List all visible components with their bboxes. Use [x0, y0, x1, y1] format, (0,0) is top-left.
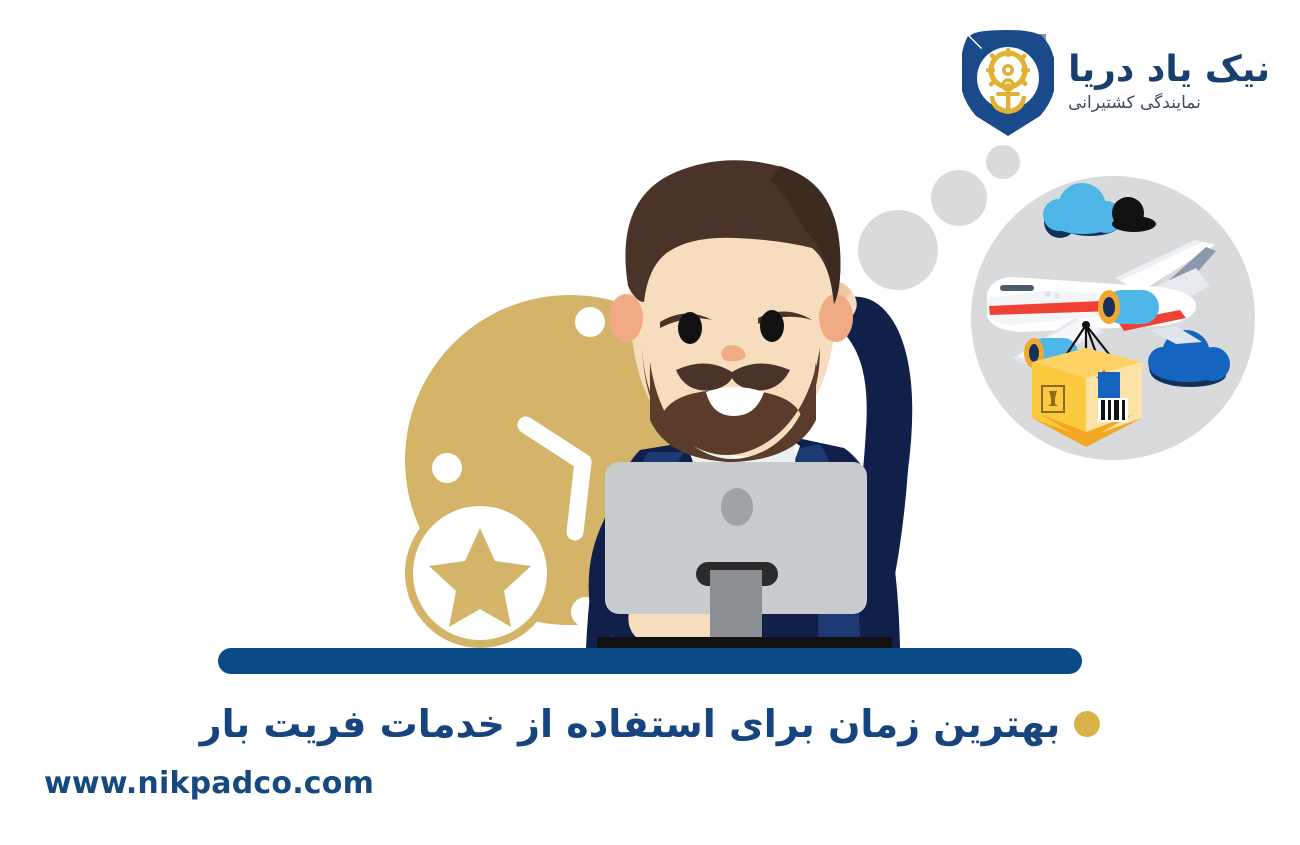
brand-logo[interactable]: نیک یاد دریا نمایندگی کشتیرانی [962, 28, 1270, 136]
keyboard [597, 637, 892, 650]
eyebrow-right [758, 311, 812, 324]
businessman [586, 160, 912, 648]
eye-right [760, 310, 784, 342]
headline-text: بهترین زمان برای استفاده از خدمات فریت ب… [200, 702, 1061, 746]
thought-bubbles [858, 145, 1020, 290]
nose [721, 345, 746, 361]
arm-left [589, 520, 700, 642]
brand-subtitle: نمایندگی کشتیرانی [1068, 95, 1201, 112]
compass-ship-wheel-anchor-icon [962, 28, 1054, 136]
monitor-camera-bump [721, 488, 753, 526]
cloud-lower [1148, 330, 1230, 387]
hair [625, 160, 840, 304]
eyebrow-left [660, 313, 712, 328]
neck [698, 374, 790, 457]
headline: بهترین زمان برای استفاده از خدمات فریت ب… [0, 693, 1300, 755]
cloud-upper [1043, 183, 1156, 238]
banner-canvas: نیک یاد دریا نمایندگی کشتیرانی [0, 0, 1300, 845]
ear-right [819, 294, 853, 342]
website-url[interactable]: www.nikpadco.com [44, 766, 374, 801]
star-icon [429, 528, 531, 627]
air-freight-badge [971, 176, 1255, 460]
cargo-ropes [1053, 325, 1123, 375]
suit-jacket [586, 430, 900, 648]
desktop-monitor [597, 462, 892, 650]
brand-wordmark: نیک یاد دریا نمایندگی کشتیرانی [1068, 52, 1270, 112]
brand-title: نیک یاد دریا [1068, 52, 1270, 88]
monitor-stand [710, 570, 762, 646]
moustache [676, 363, 790, 390]
headline-bullet-dot [1074, 711, 1100, 737]
eye-left [678, 312, 702, 344]
shirt [688, 424, 800, 520]
mouth [706, 387, 764, 416]
clock-circle [405, 295, 735, 627]
engine-upper [1098, 290, 1159, 324]
engine-lower [1024, 338, 1078, 368]
arm-raised [826, 297, 912, 600]
desk-bar [218, 648, 1082, 674]
tie-knot [736, 462, 752, 504]
badge-backdrop [971, 176, 1255, 460]
clock-hand-hour [575, 462, 583, 532]
star-badge [405, 498, 555, 648]
clock-hand-minute [526, 425, 583, 462]
face [629, 172, 836, 444]
cargo-box-icon [1032, 348, 1142, 447]
thought-bubble-large [858, 210, 938, 290]
beard-outline [642, 348, 820, 455]
thought-bubble-small [986, 145, 1020, 179]
lapel-left [610, 452, 684, 648]
hair-shade [770, 166, 840, 304]
monitor-neck-clip [696, 562, 778, 586]
thought-bubble-medium [931, 170, 987, 226]
ear-left [609, 294, 643, 342]
monitor-back [605, 462, 867, 614]
lapel-right [792, 444, 860, 648]
airplane-icon [987, 240, 1216, 368]
hand-on-keyboard [628, 587, 740, 640]
hand-at-temple [812, 281, 857, 328]
